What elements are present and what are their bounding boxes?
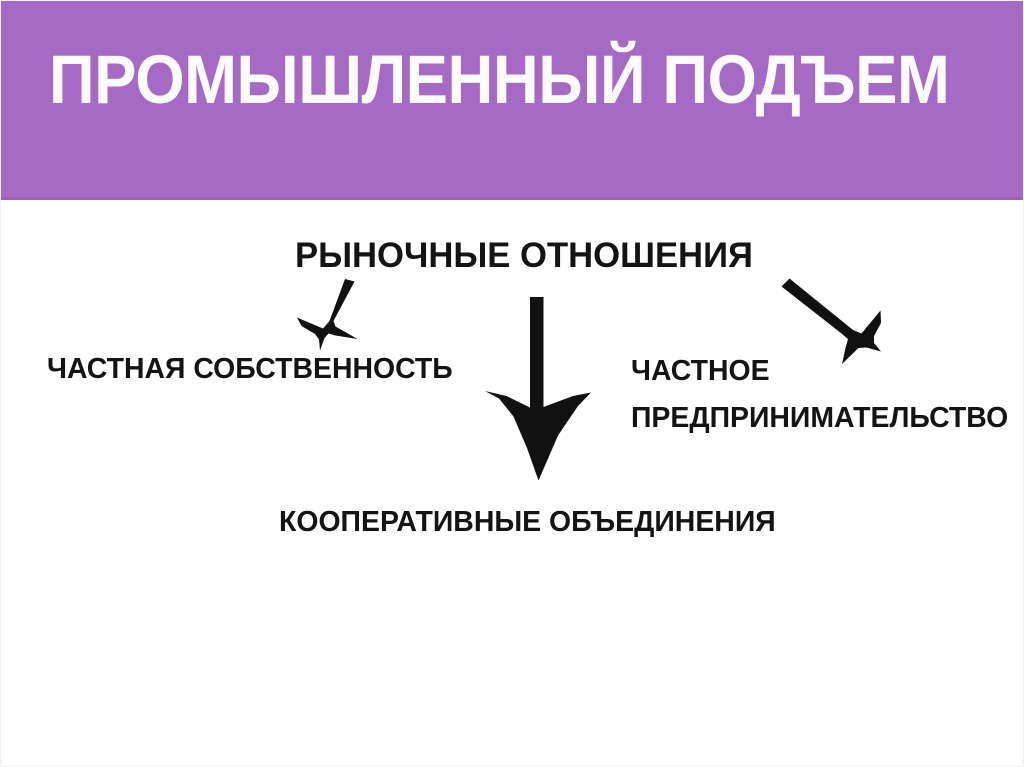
node-label-root: РЫНОЧНЫЕ ОТНОШЕНИЯ: [295, 236, 753, 276]
arrow-layer: [1, 200, 1024, 767]
diagram-body: РЫНОЧНЫЕ ОТНОШЕНИЯ ЧАСТНАЯ СОБСТВЕННОСТЬ…: [1, 200, 1024, 767]
node-label-cooperatives: КООПЕРАТИВНЫЕ ОБЪЕДИНЕНИЯ: [279, 505, 776, 539]
page-title: ПРОМЫШЛЕННЫЙ ПОДЪЕМ: [49, 41, 895, 119]
slide-canvas: ПРОМЫШЛЕННЫЙ ПОДЪЕМ РЫНОЧНЫЕ ОТНОШЕНИЯ Ч…: [0, 0, 1024, 767]
arrow-down-left-icon: [297, 279, 358, 351]
node-label-private-property: ЧАСТНАЯ СОБСТВЕННОСТЬ: [47, 352, 453, 386]
node-label-private-entrepreneurship: ЧАСТНОЕ ПРЕДПРИНИМАТЕЛЬСТВО: [631, 348, 1003, 442]
arrow-down-icon: [485, 297, 591, 481]
